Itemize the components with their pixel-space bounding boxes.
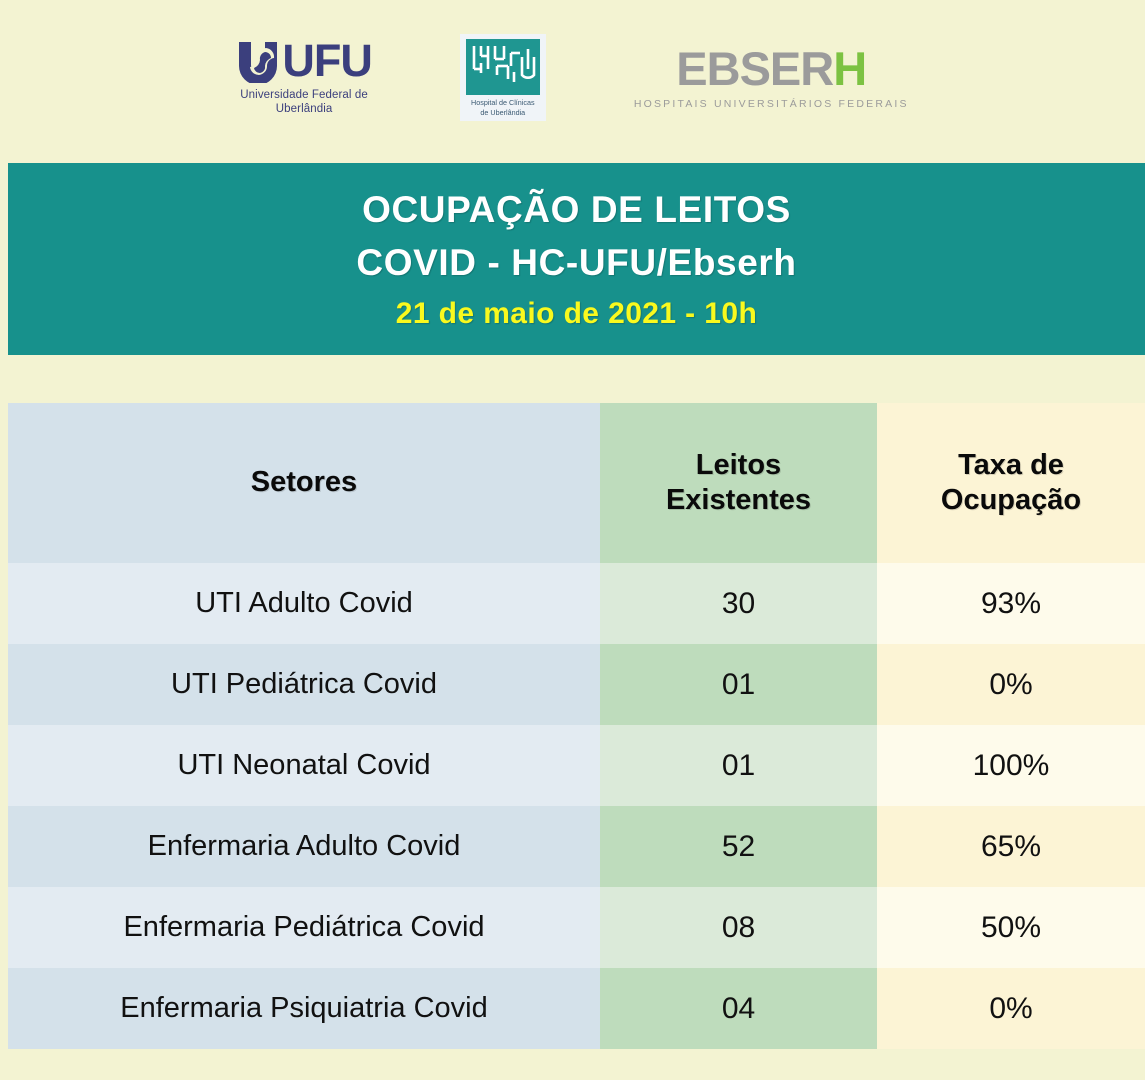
ebserh-logo: EBSERH HOSPITAIS UNIVERSITÁRIOS FEDERAIS bbox=[634, 45, 909, 110]
column-header-taxa-de-ocupacao-label: Taxa deOcupação bbox=[941, 448, 1081, 519]
cell-leitos: 30 bbox=[722, 587, 755, 621]
table-row: 08 bbox=[600, 887, 877, 968]
ufu-subtitle-line2: Uberlândia bbox=[240, 102, 368, 116]
table-row: UTI Pediátrica Covid bbox=[8, 644, 600, 725]
column-header-setores: Setores bbox=[8, 403, 600, 563]
cell-leitos: 01 bbox=[722, 668, 755, 702]
hc-subtitle-line1: Hospital de Clínicas bbox=[471, 98, 535, 108]
banner-title-line1: OCUPAÇÃO DE LEITOS bbox=[362, 184, 791, 237]
hc-subtitle-line2: de Uberlândia bbox=[471, 108, 535, 118]
cell-taxa: 65% bbox=[981, 830, 1041, 864]
table-row: 52 bbox=[600, 806, 877, 887]
cell-leitos: 08 bbox=[722, 911, 755, 945]
ebserh-wordmark-gray: EBSER bbox=[676, 42, 833, 95]
cell-taxa: 93% bbox=[981, 587, 1041, 621]
cell-taxa: 0% bbox=[989, 992, 1032, 1026]
hc-subtitle: Hospital de Clínicas de Uberlândia bbox=[471, 98, 535, 117]
cell-leitos: 52 bbox=[722, 830, 755, 864]
cell-setor: Enfermaria Pediátrica Covid bbox=[123, 911, 484, 944]
cell-setor: UTI Neonatal Covid bbox=[177, 749, 430, 782]
table-row: 01 bbox=[600, 725, 877, 806]
hospital-de-clinicas-logo: Hospital de Clínicas de Uberlândia bbox=[460, 34, 546, 121]
ufu-logo-top: UFU bbox=[236, 39, 371, 83]
cell-setor: Enfermaria Psiquiatria Covid bbox=[120, 992, 487, 1025]
column-header-leitos-existentes: LeitosExistentes bbox=[600, 403, 877, 563]
banner-title-line2: COVID - HC-UFU/Ebserh bbox=[356, 237, 796, 290]
ufu-logo: UFU Universidade Federal de Uberlândia bbox=[236, 39, 371, 117]
cell-setor: UTI Pediátrica Covid bbox=[171, 668, 437, 701]
column-header-leitos-existentes-label: LeitosExistentes bbox=[666, 448, 811, 519]
cell-leitos: 04 bbox=[722, 992, 755, 1026]
ufu-swirl-icon bbox=[236, 39, 280, 83]
cell-setor: UTI Adulto Covid bbox=[195, 587, 413, 620]
table-row: Enfermaria Adulto Covid bbox=[8, 806, 600, 887]
ebserh-wordmark-green-h: H bbox=[833, 42, 866, 95]
table-row: UTI Adulto Covid bbox=[8, 563, 600, 644]
table-row: 93% bbox=[877, 563, 1145, 644]
table-row: UTI Neonatal Covid bbox=[8, 725, 600, 806]
logo-bar: UFU Universidade Federal de Uberlândia bbox=[0, 0, 1145, 163]
table-row: Enfermaria Pediátrica Covid bbox=[8, 887, 600, 968]
table-row: Enfermaria Psiquiatria Covid bbox=[8, 968, 600, 1049]
infographic-page: UFU Universidade Federal de Uberlândia bbox=[0, 0, 1145, 1080]
cell-setor: Enfermaria Adulto Covid bbox=[148, 830, 461, 863]
table-row: 0% bbox=[877, 644, 1145, 725]
ufu-wordmark: UFU bbox=[282, 39, 371, 83]
table-row: 100% bbox=[877, 725, 1145, 806]
cell-taxa: 100% bbox=[973, 749, 1050, 783]
column-header-setores-label: Setores bbox=[251, 465, 357, 500]
banner-date: 21 de maio de 2021 - 10h bbox=[396, 290, 757, 338]
ebserh-wordmark: EBSERH bbox=[676, 45, 866, 92]
table-row: 30 bbox=[600, 563, 877, 644]
table-row: 65% bbox=[877, 806, 1145, 887]
column-header-taxa-de-ocupacao: Taxa deOcupação bbox=[877, 403, 1145, 563]
hcu-monogram-icon bbox=[466, 39, 540, 95]
table-row: 01 bbox=[600, 644, 877, 725]
table-row: 0% bbox=[877, 968, 1145, 1049]
ufu-subtitle-line1: Universidade Federal de bbox=[240, 88, 368, 102]
table-row: 50% bbox=[877, 887, 1145, 968]
table-row: 04 bbox=[600, 968, 877, 1049]
occupancy-table: Setores LeitosExistentes Taxa deOcupação… bbox=[8, 403, 1145, 1080]
ebserh-subtitle: HOSPITAIS UNIVERSITÁRIOS FEDERAIS bbox=[634, 99, 909, 110]
title-banner: OCUPAÇÃO DE LEITOS COVID - HC-UFU/Ebserh… bbox=[8, 163, 1145, 355]
ufu-subtitle: Universidade Federal de Uberlândia bbox=[240, 88, 368, 117]
cell-taxa: 50% bbox=[981, 911, 1041, 945]
cell-taxa: 0% bbox=[989, 668, 1032, 702]
cell-leitos: 01 bbox=[722, 749, 755, 783]
